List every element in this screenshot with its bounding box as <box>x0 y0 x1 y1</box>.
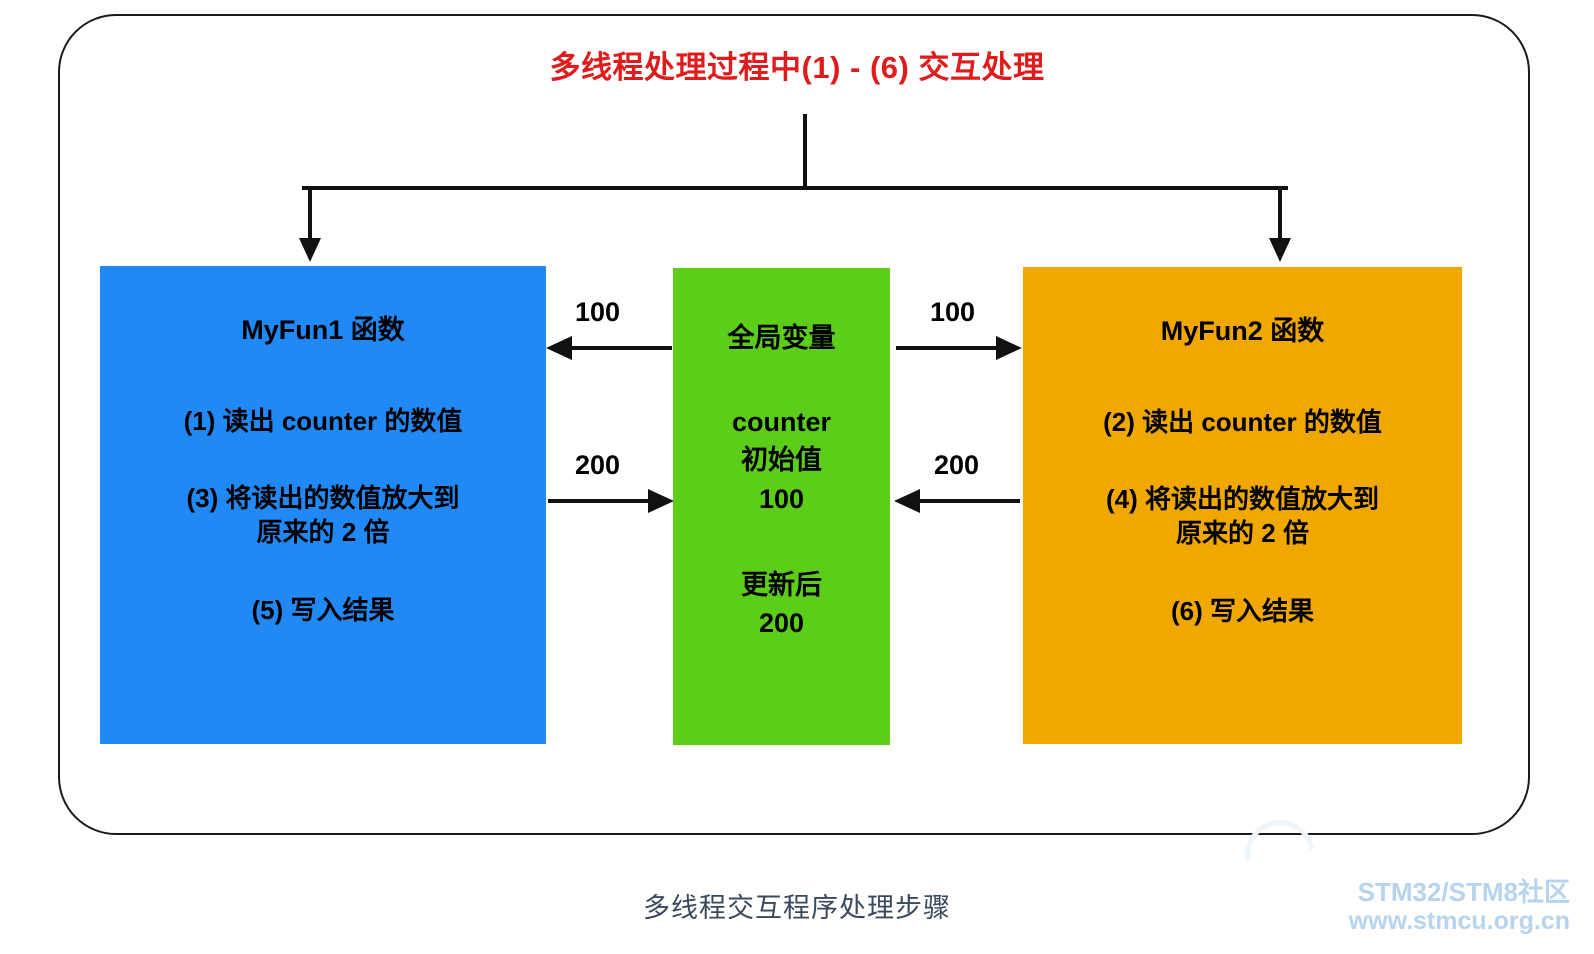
diagram-canvas: 多线程处理过程中(1) - (6) 交互处理 MyFun1 函数 (1) 读出 … <box>0 0 1594 954</box>
panel-global-updated-value: 200 <box>741 604 822 642</box>
arrow-label-left-bottom-200: 200 <box>575 450 620 481</box>
arrow-line-right-top <box>896 346 996 350</box>
arrow-label-right-top-100: 100 <box>930 297 975 328</box>
panel-thread2-myfun2[interactable]: MyFun2 函数 (2) 读出 counter 的数值 (4) 将读出的数值放… <box>1023 267 1462 744</box>
panel-thread1-myfun1[interactable]: MyFun1 函数 (1) 读出 counter 的数值 (3) 将读出的数值放… <box>100 266 546 744</box>
arrow-line-right-bottom <box>920 499 1020 503</box>
arrow-label-left-top-100: 100 <box>575 297 620 328</box>
panel-thread2-step-4: (4) 将读出的数值放大到 原来的 2 倍 <box>1096 482 1389 551</box>
watermark-site-url: www.stmcu.org.cn <box>1349 907 1570 935</box>
panel-global-initial-group: counter 初始值 100 <box>732 403 831 518</box>
connector-horizontal-bar <box>302 186 1288 190</box>
panel-global-variable[interactable]: 全局变量 counter 初始值 100 更新后 200 <box>673 268 890 745</box>
arrow-right-icon-left-bottom <box>648 489 674 513</box>
panel-thread1-step-1: (1) 读出 counter 的数值 <box>174 404 473 438</box>
arrow-down-icon-right <box>1269 238 1291 262</box>
panel-global-updated-label: 更新后 <box>741 566 822 604</box>
panel-global-initial-label: 初始值 <box>732 441 831 479</box>
panel-thread2-heading: MyFun2 函数 <box>1161 315 1325 347</box>
arrow-down-icon-left <box>299 238 321 262</box>
panel-thread2-step-4-line-b: 原来的 2 倍 <box>1106 516 1379 550</box>
panel-global-var-name: counter <box>732 403 831 441</box>
arrow-left-icon-right-bottom <box>894 489 920 513</box>
panel-thread2-step-2: (2) 读出 counter 的数值 <box>1093 405 1392 439</box>
diagram-title: 多线程处理过程中(1) - (6) 交互处理 <box>0 42 1594 87</box>
arrow-left-icon-left-top <box>546 336 572 360</box>
watermark-site-name: STM32/STM8社区 <box>1349 878 1570 907</box>
arrow-line-left-bottom <box>548 499 648 503</box>
panel-global-initial-value: 100 <box>732 480 831 518</box>
panel-thread1-heading: MyFun1 函数 <box>241 314 405 346</box>
watermark: STM32/STM8社区 www.stmcu.org.cn <box>1349 878 1570 935</box>
panel-thread1-step-3: (3) 将读出的数值放大到 原来的 2 倍 <box>176 481 469 550</box>
panel-global-updated-group: 更新后 200 <box>741 566 822 643</box>
panel-thread2-step-6: (6) 写入结果 <box>1161 594 1324 628</box>
panel-thread2-step-4-line-a: (4) 将读出的数值放大到 <box>1106 482 1379 516</box>
connector-vertical-stem <box>803 114 807 190</box>
panel-thread1-step-5: (5) 写入结果 <box>241 593 404 627</box>
arrow-line-left-top <box>572 346 672 350</box>
arrow-label-right-bottom-200: 200 <box>934 450 979 481</box>
panel-thread1-step-3-line-b: 原来的 2 倍 <box>186 515 459 549</box>
connector-right-drop <box>1278 186 1282 240</box>
connector-left-drop <box>308 186 312 240</box>
panel-thread1-step-3-line-a: (3) 将读出的数值放大到 <box>186 481 459 515</box>
panel-global-heading: 全局变量 <box>728 316 836 355</box>
arrow-right-icon-right-top <box>996 336 1022 360</box>
